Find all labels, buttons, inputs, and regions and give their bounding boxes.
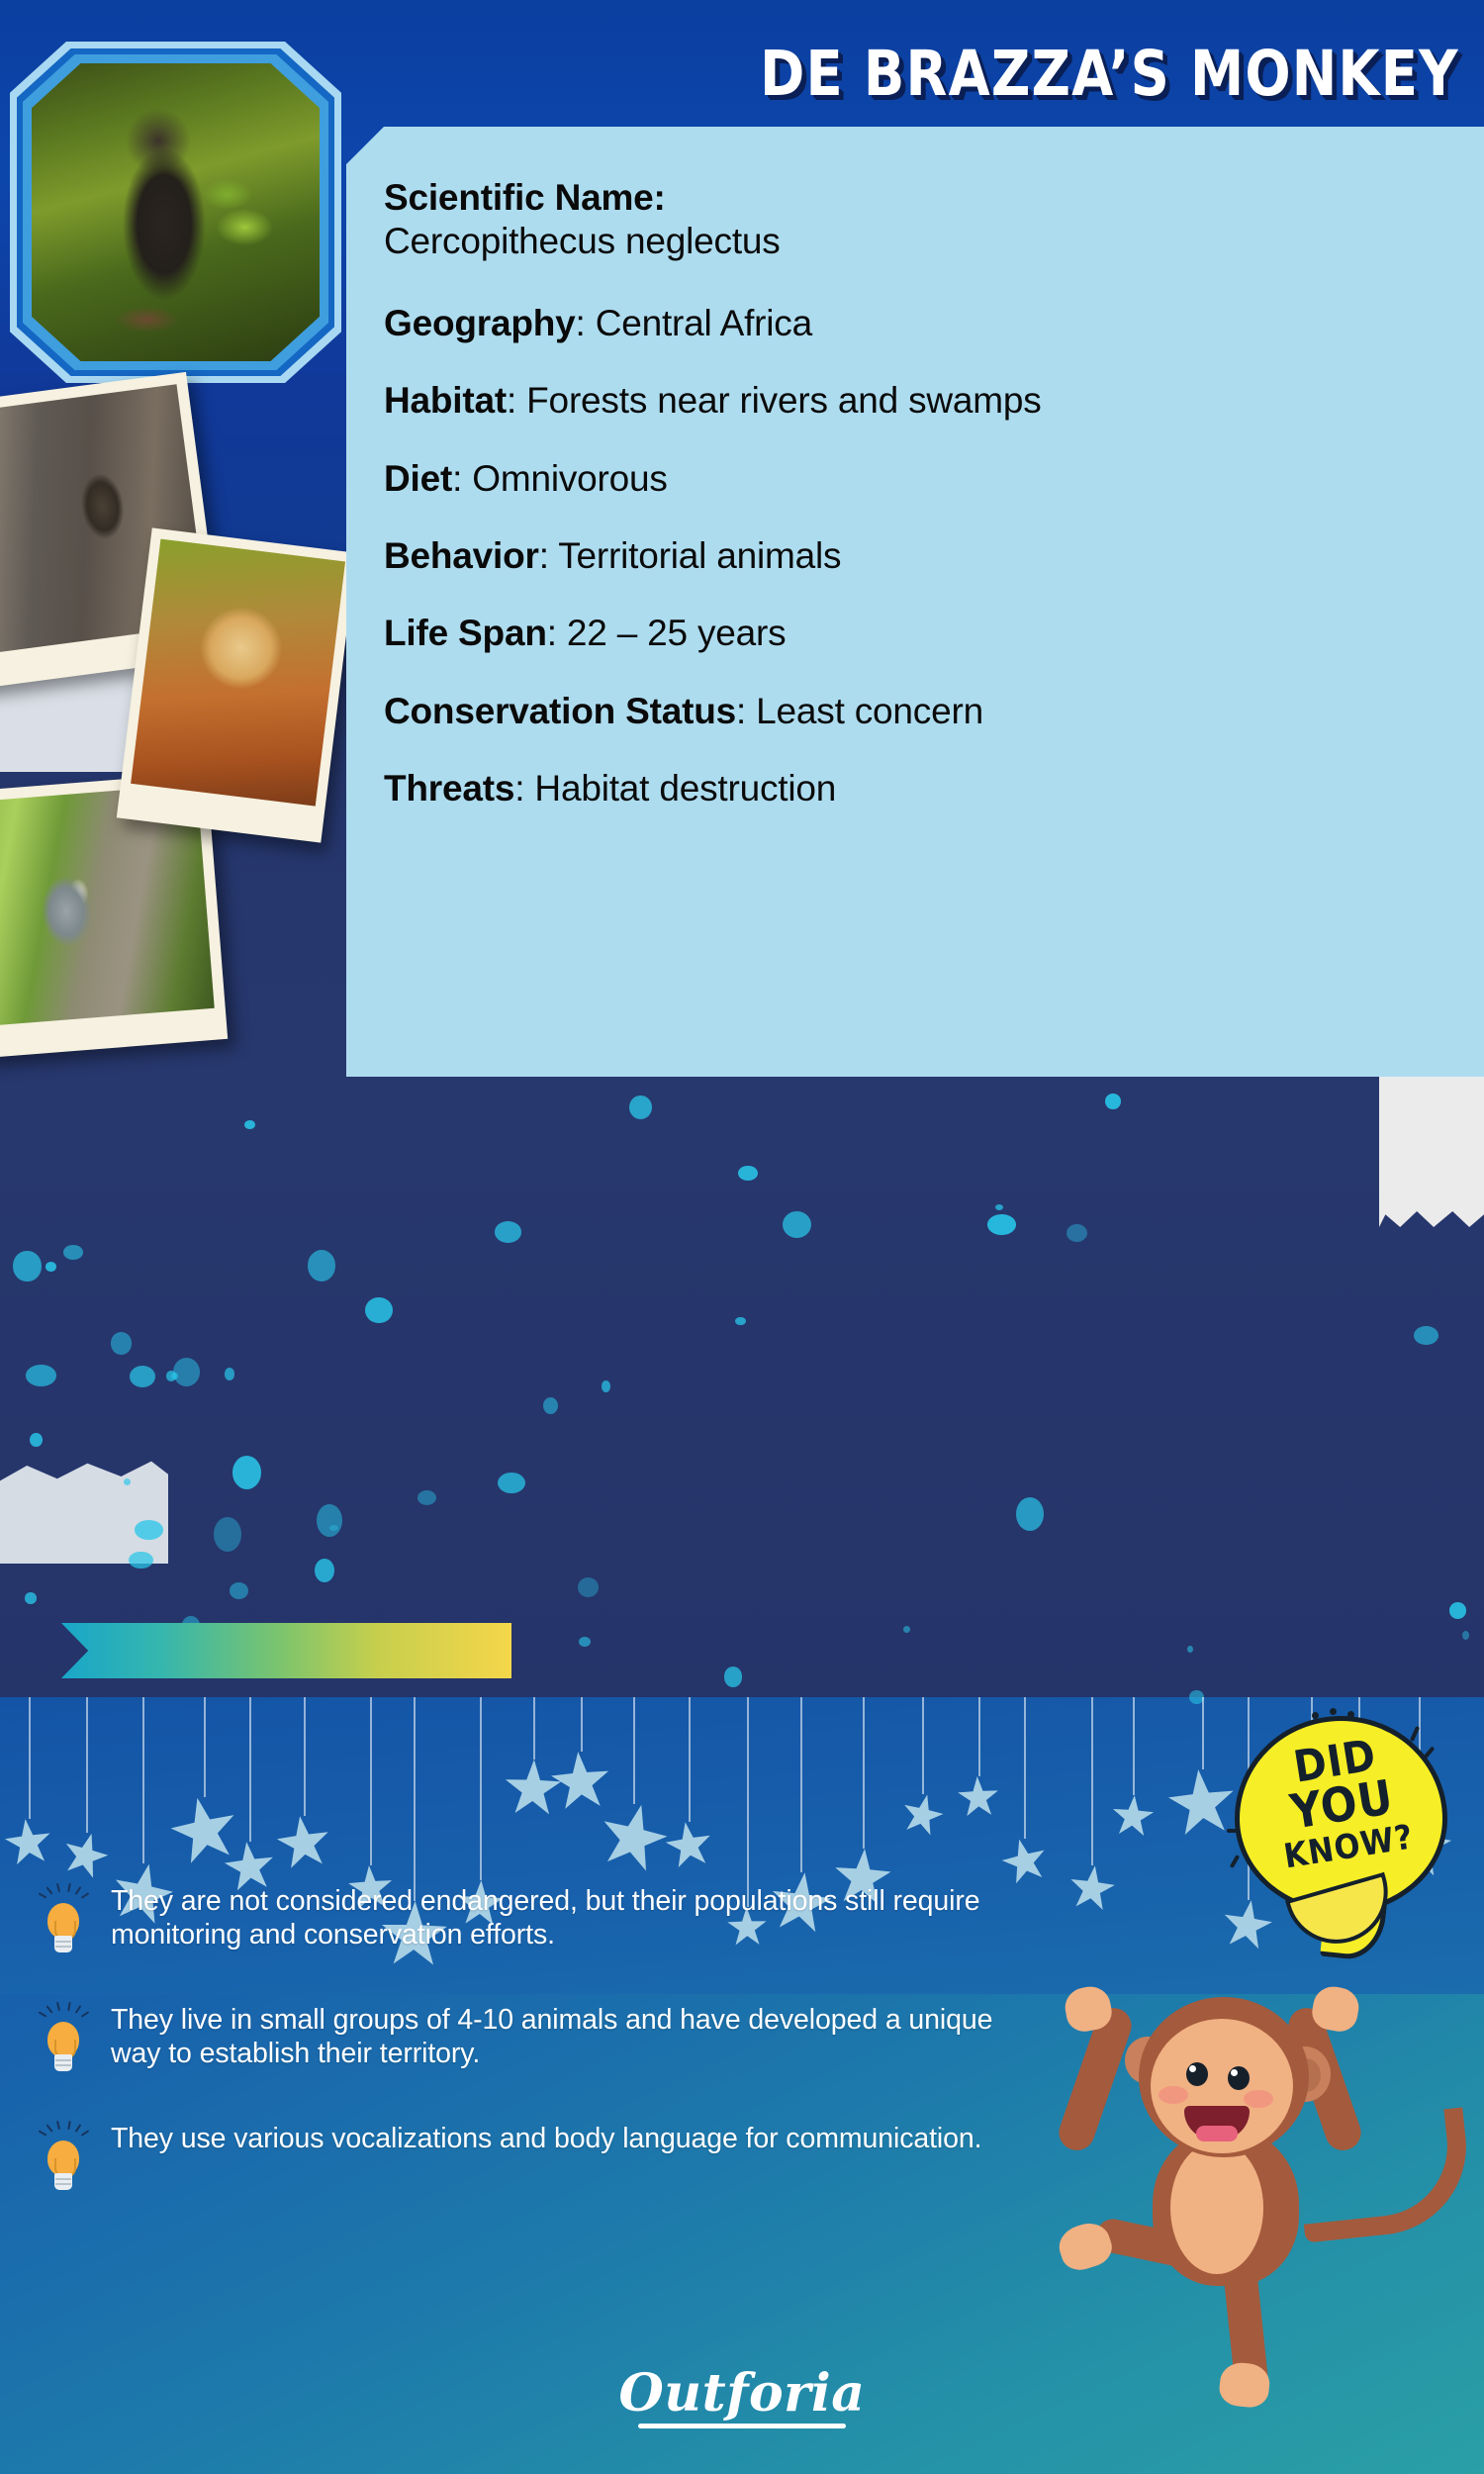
monkey-cheek-right	[1244, 2090, 1273, 2108]
hero-photo-frame	[10, 42, 341, 383]
paint-speckle	[987, 1214, 1017, 1235]
fact-value-conservation-status: : Least concern	[736, 691, 983, 731]
fact-label-threats: Threats	[384, 768, 514, 809]
paint-speckle	[25, 1592, 37, 1603]
fact-value-threats: : Habitat destruction	[514, 768, 836, 809]
torn-paper-left-lower	[0, 1455, 168, 1564]
fact-label-diet: Diet	[384, 458, 452, 499]
fun-fact-item: They live in small groups of 4-10 animal…	[22, 2004, 1041, 2107]
hanging-star	[1067, 1862, 1117, 1913]
paint-speckle	[111, 1332, 132, 1354]
paint-speckle	[46, 1262, 56, 1272]
outforia-logo-text: Outforia	[618, 2363, 865, 2430]
paint-speckle	[735, 1317, 746, 1326]
hanging-star	[165, 1791, 243, 1869]
paint-speckle	[225, 1368, 235, 1380]
star-string	[204, 1697, 206, 1797]
paint-speckle	[602, 1380, 610, 1391]
hanging-star	[897, 1789, 946, 1838]
star-string	[1091, 1697, 1093, 1865]
hanging-star	[548, 1749, 611, 1812]
hanging-star	[957, 1775, 1000, 1819]
star-string	[1202, 1697, 1204, 1769]
outforia-logo[interactable]: Outforia	[0, 2363, 1484, 2430]
paint-speckle	[498, 1473, 525, 1493]
fact-row-life-span: Life Span: 22 – 25 years	[384, 612, 1448, 655]
hanging-star	[274, 1813, 333, 1872]
star-string	[370, 1697, 372, 1865]
monkey-eye-left-highlight	[1189, 2065, 1196, 2072]
lightbulb-icon	[38, 2012, 89, 2077]
paint-speckle	[417, 1490, 436, 1505]
fun-facts-list: They are not considered endangered, but …	[22, 1885, 1041, 2241]
fact-label-behavior: Behavior	[384, 535, 539, 576]
paint-speckle	[543, 1397, 558, 1414]
fact-row-diet: Diet: Omnivorous	[384, 457, 1448, 501]
hanging-star	[594, 1797, 674, 1877]
fact-value-life-span: : 22 – 25 years	[547, 613, 787, 653]
paint-speckle	[166, 1371, 176, 1381]
paint-speckle	[724, 1666, 742, 1686]
paint-speckle	[30, 1433, 43, 1447]
star-string	[922, 1697, 924, 1794]
star-string	[633, 1697, 635, 1804]
decorative-ribbon-notch	[61, 1623, 511, 1678]
fact-label-life-span: Life Span	[384, 613, 547, 653]
paint-speckle	[578, 1577, 599, 1597]
fun-fact-item: They use various vocalizations and body …	[22, 2123, 1041, 2226]
monkey-tail	[1293, 2107, 1475, 2242]
hanging-star	[663, 1819, 715, 1871]
paint-speckle	[130, 1366, 155, 1387]
fact-value-habitat: : Forests near rivers and swamps	[507, 380, 1042, 421]
paint-speckle	[124, 1478, 131, 1485]
star-string	[533, 1697, 535, 1760]
cartoon-monkey-mascot	[1044, 1940, 1479, 2405]
star-string	[863, 1697, 865, 1849]
monkey-tongue	[1196, 2126, 1238, 2141]
paint-speckle	[329, 1525, 338, 1531]
hanging-star	[997, 1835, 1051, 1888]
hanging-star	[2, 1817, 53, 1868]
paint-speckle	[1449, 1602, 1466, 1618]
star-string	[1024, 1697, 1026, 1839]
hanging-star	[504, 1759, 563, 1818]
star-string	[249, 1697, 251, 1842]
monkey-cheek-left	[1159, 2086, 1188, 2104]
paint-speckle	[315, 1559, 334, 1582]
hanging-star	[1110, 1793, 1155, 1838]
fun-fact-text: They live in small groups of 4-10 animal…	[111, 2004, 1041, 2071]
star-string	[414, 1697, 416, 1901]
polaroid-photo-2	[117, 527, 356, 842]
paint-speckle	[1105, 1094, 1121, 1109]
paint-speckle	[308, 1250, 335, 1281]
fact-row-conservation-status: Conservation Status: Least concern	[384, 690, 1448, 733]
fact-value-scientific-name: Cercopithecus neglectus	[384, 221, 781, 261]
paint-speckle	[1067, 1224, 1087, 1242]
star-string	[29, 1697, 31, 1819]
paint-speckle	[173, 1358, 200, 1386]
fact-row-threats: Threats: Habitat destruction	[384, 767, 1448, 810]
fact-row-habitat: Habitat: Forests near rivers and swamps	[384, 379, 1448, 423]
star-string	[978, 1697, 980, 1776]
paint-speckle	[63, 1245, 83, 1260]
fact-value-diet: : Omnivorous	[452, 458, 668, 499]
fact-label-conservation-status: Conservation Status	[384, 691, 736, 731]
paint-speckle	[13, 1251, 41, 1281]
page-title: DE BRAZZA’S MONKEY	[372, 36, 1474, 113]
star-string	[800, 1697, 802, 1872]
paint-speckle	[995, 1204, 1003, 1210]
infographic-poster: DE BRAZZA’S MONKEY Scientific Name:Cerco…	[0, 0, 1484, 2474]
lightbulb-icon	[38, 2131, 89, 2196]
star-string	[581, 1697, 583, 1752]
star-string	[86, 1697, 88, 1833]
paint-speckle	[26, 1365, 56, 1386]
fact-label-habitat: Habitat	[384, 380, 507, 421]
paint-speckle	[317, 1504, 342, 1537]
paint-speckle	[232, 1456, 261, 1489]
paint-speckle	[1414, 1326, 1438, 1345]
fun-fact-item: They are not considered endangered, but …	[22, 1885, 1041, 1988]
fun-fact-text: They use various vocalizations and body …	[111, 2123, 1041, 2156]
fact-label-geography: Geography	[384, 303, 576, 343]
star-string	[142, 1697, 144, 1863]
fact-row-scientific-name: Scientific Name:Cercopithecus neglectus	[384, 176, 1448, 264]
fact-row-behavior: Behavior: Territorial animals	[384, 534, 1448, 578]
hanging-star	[58, 1828, 113, 1882]
fun-fact-text: They are not considered endangered, but …	[111, 1885, 1041, 1952]
star-string	[480, 1697, 482, 1880]
paint-speckle	[214, 1517, 241, 1551]
paint-speckle	[1462, 1631, 1470, 1640]
paint-speckle	[244, 1120, 255, 1129]
star-string	[747, 1697, 749, 1907]
star-string	[1133, 1697, 1135, 1795]
star-string	[689, 1697, 691, 1822]
fact-label-scientific-name: Scientific Name:	[384, 176, 1448, 220]
hero-photo	[32, 63, 320, 361]
fact-row-geography: Geography: Central Africa	[384, 302, 1448, 345]
species-facts-card: Scientific Name:Cercopithecus neglectusG…	[346, 127, 1484, 1077]
paint-speckle	[738, 1166, 758, 1181]
paint-speckle	[135, 1520, 163, 1540]
species-facts-list: Scientific Name:Cercopithecus neglectusG…	[346, 127, 1484, 811]
paint-speckle	[783, 1211, 811, 1238]
paint-speckle	[365, 1297, 393, 1323]
monkey-eye-right-highlight	[1231, 2069, 1238, 2076]
lightbulb-icon	[38, 1893, 89, 1958]
fact-value-geography: : Central Africa	[576, 303, 812, 343]
paint-speckle	[1016, 1497, 1044, 1531]
star-string	[304, 1697, 306, 1816]
monkey-belly	[1170, 2141, 1263, 2274]
fact-value-behavior: : Territorial animals	[539, 535, 842, 576]
